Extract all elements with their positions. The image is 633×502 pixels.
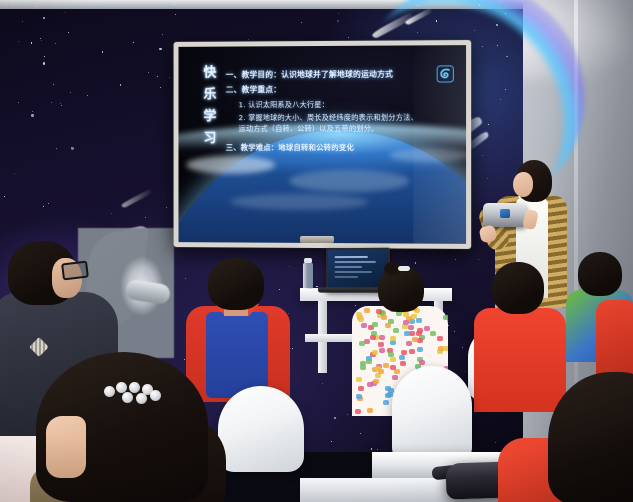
- classroom-scene: 快 乐 学 习 一、教学目的：认识地球并了解地球的运动方式 二、教学重点： 1.…: [0, 0, 633, 502]
- bottle-cap: [304, 258, 312, 263]
- girl-head: [378, 266, 424, 312]
- child-far-right-body: [596, 300, 633, 378]
- display-panel: 快 乐 学 习 一、教学目的：认识地球并了解地球的运动方式 二、教学重点： 1.…: [178, 45, 466, 244]
- motto-char-4: 习: [204, 132, 217, 145]
- child-red-jacket-body: [474, 308, 566, 412]
- motto-char-2: 乐: [204, 88, 217, 101]
- teacher-face: [513, 172, 533, 197]
- motto-char-3: 学: [204, 110, 217, 123]
- boy-head: [208, 258, 264, 310]
- slide-line-2: 二、教学重点：: [226, 84, 420, 97]
- slide-line-1: 一、教学目的：认识地球并了解地球的运动方式: [226, 69, 420, 82]
- slide-line-4: 2. 掌握地球的大小、周长及经纬度的表示和划分方法、运动方式（自转、公转）以及五…: [239, 112, 420, 135]
- slide-line-5: 三、教学难点：地球自转和公转的变化: [226, 142, 420, 154]
- wall-display[interactable]: 快 乐 学 习 一、教学目的：认识地球并了解地球的运动方式 二、教学重点： 1.…: [174, 40, 472, 249]
- boy-green-blue-head: [578, 252, 622, 296]
- slide-line-3: 1. 认识太阳系及八大行星：: [239, 99, 420, 111]
- glasses-icon: [61, 260, 89, 280]
- slide-vertical-motto: 快 乐 学 习: [198, 66, 222, 145]
- slide-body-text: 一、教学目的：认识地球并了解地球的运动方式 二、教学重点： 1. 认识太阳系及八…: [226, 69, 420, 154]
- display-stand: [300, 236, 334, 243]
- device-display: [500, 209, 510, 218]
- pearl-hair-clip: [104, 382, 162, 402]
- water-bottle: [303, 262, 313, 289]
- woman-hand: [46, 416, 86, 478]
- child-red-jacket-head: [492, 262, 544, 314]
- chair: [392, 366, 472, 462]
- hair-clip: [398, 266, 410, 271]
- rocket-icon: [121, 188, 153, 208]
- motto-char-1: 快: [204, 67, 217, 80]
- chair: [218, 386, 304, 472]
- display-glare: [413, 45, 466, 244]
